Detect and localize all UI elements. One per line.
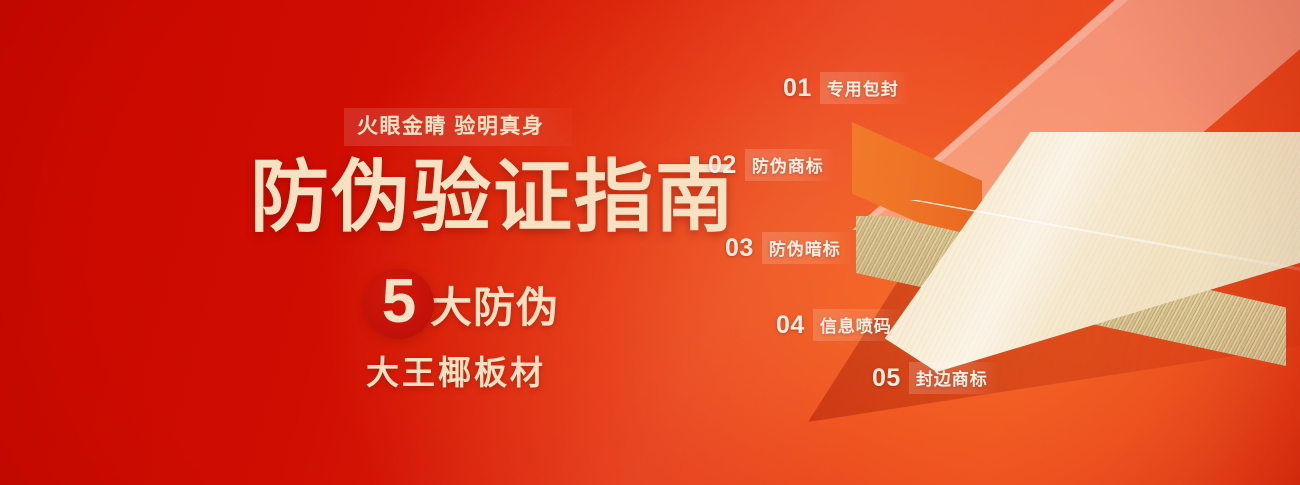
callout-02-label: 防伪商标 — [745, 149, 833, 181]
callout-05: 05 封边商标 — [872, 363, 997, 393]
callout-04-label: 信息喷码 — [813, 309, 901, 341]
callout-02: 02 防伪商标 — [708, 150, 833, 180]
callout-03-label: 防伪暗标 — [762, 232, 850, 264]
count-number: 5 — [382, 271, 416, 333]
callout-03-number: 03 — [725, 234, 754, 263]
callout-01-label: 专用包封 — [820, 72, 908, 104]
callout-01: 01 专用包封 — [783, 73, 908, 103]
tagline-text: 火眼金睛 验明真身 — [344, 108, 572, 146]
headline-block: 火眼金睛 验明真身 防伪验证指南 5 大防伪 大王椰板材 — [236, 108, 706, 394]
promo-banner: 火眼金睛 验明真身 防伪验证指南 5 大防伪 大王椰板材 01 专用包封 02 … — [0, 0, 1300, 485]
callout-05-label: 封边商标 — [909, 362, 997, 394]
count-badge: 5 — [364, 269, 434, 339]
callout-02-number: 02 — [708, 151, 737, 180]
brand-name: 大王椰板材 — [366, 346, 706, 394]
tagline-badge: 火眼金睛 验明真身 — [344, 108, 572, 146]
board-illustration — [760, 0, 1300, 434]
callout-05-number: 05 — [872, 364, 901, 393]
callout-04-number: 04 — [776, 311, 805, 340]
page-title: 防伪验证指南 — [250, 156, 706, 238]
callout-03: 03 防伪暗标 — [725, 233, 850, 263]
callout-04: 04 信息喷码 — [776, 310, 901, 340]
feature-count-row: 5 大防伪 — [364, 268, 706, 340]
callout-01-number: 01 — [783, 74, 812, 103]
count-suffix-text: 大防伪 — [430, 274, 559, 335]
